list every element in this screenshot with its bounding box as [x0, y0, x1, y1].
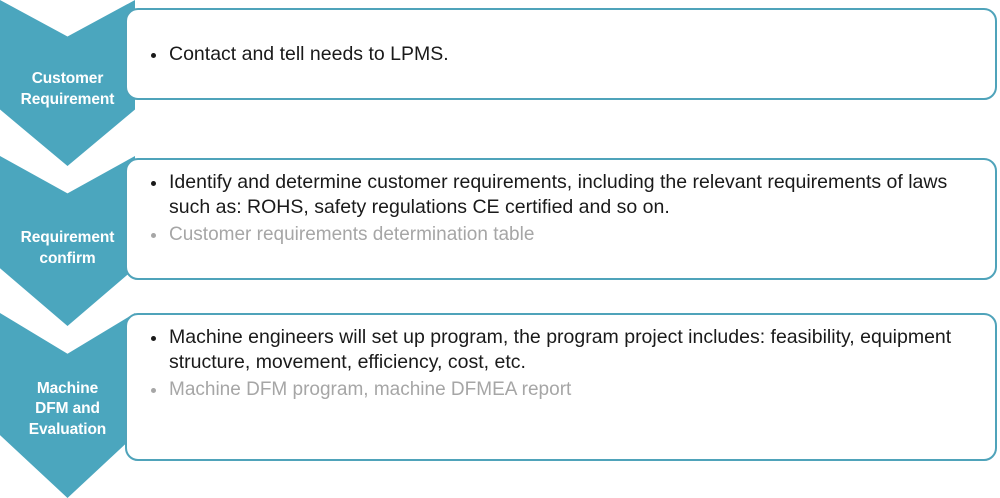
step-chevron-label-line: Requirement	[1, 90, 134, 110]
bullet-list: Contact and tell needs to LPMS.	[143, 42, 979, 68]
step-chevron-label-line: DFM and	[1, 399, 134, 419]
bullet-list: Machine engineers will set up program, t…	[143, 325, 979, 402]
step-chevron-label: Customer Requirement	[0, 69, 135, 110]
bullet-item: Contact and tell needs to LPMS.	[143, 42, 979, 67]
step-chevron-label-line: Requirement	[1, 228, 134, 248]
step-chevron-machine-dfm-and-evaluation[interactable]: Machine DFM and Evaluation	[0, 313, 135, 498]
step-content-box-requirement-confirm: Identify and determine customer requirem…	[125, 158, 997, 280]
step-chevron-label-line: Customer	[1, 69, 134, 89]
step-chevron-requirement-confirm[interactable]: Requirement confirm	[0, 156, 135, 326]
step-content-box-customer-requirement: Contact and tell needs to LPMS.	[125, 8, 997, 100]
bullet-item-secondary: Customer requirements determination tabl…	[143, 223, 979, 248]
bullet-item: Machine engineers will set up program, t…	[143, 325, 979, 376]
step-chevron-label: Requirement confirm	[0, 228, 135, 269]
bullet-item-secondary: Machine DFM program, machine DFMEA repor…	[143, 378, 979, 403]
bullet-item: Identify and determine customer requirem…	[143, 170, 979, 221]
step-content-box-machine-dfm-and-evaluation: Machine engineers will set up program, t…	[125, 313, 997, 461]
bullet-list: Identify and determine customer requirem…	[143, 170, 979, 247]
step-chevron-label-line: Machine	[1, 379, 134, 399]
step-chevron-label: Machine DFM and Evaluation	[0, 379, 135, 440]
step-chevron-customer-requirement[interactable]: Customer Requirement	[0, 0, 135, 166]
step-chevron-label-line: Evaluation	[1, 420, 134, 440]
process-diagram: Customer Requirement Contact and tell ne…	[0, 0, 1000, 498]
step-chevron-label-line: confirm	[1, 249, 134, 269]
